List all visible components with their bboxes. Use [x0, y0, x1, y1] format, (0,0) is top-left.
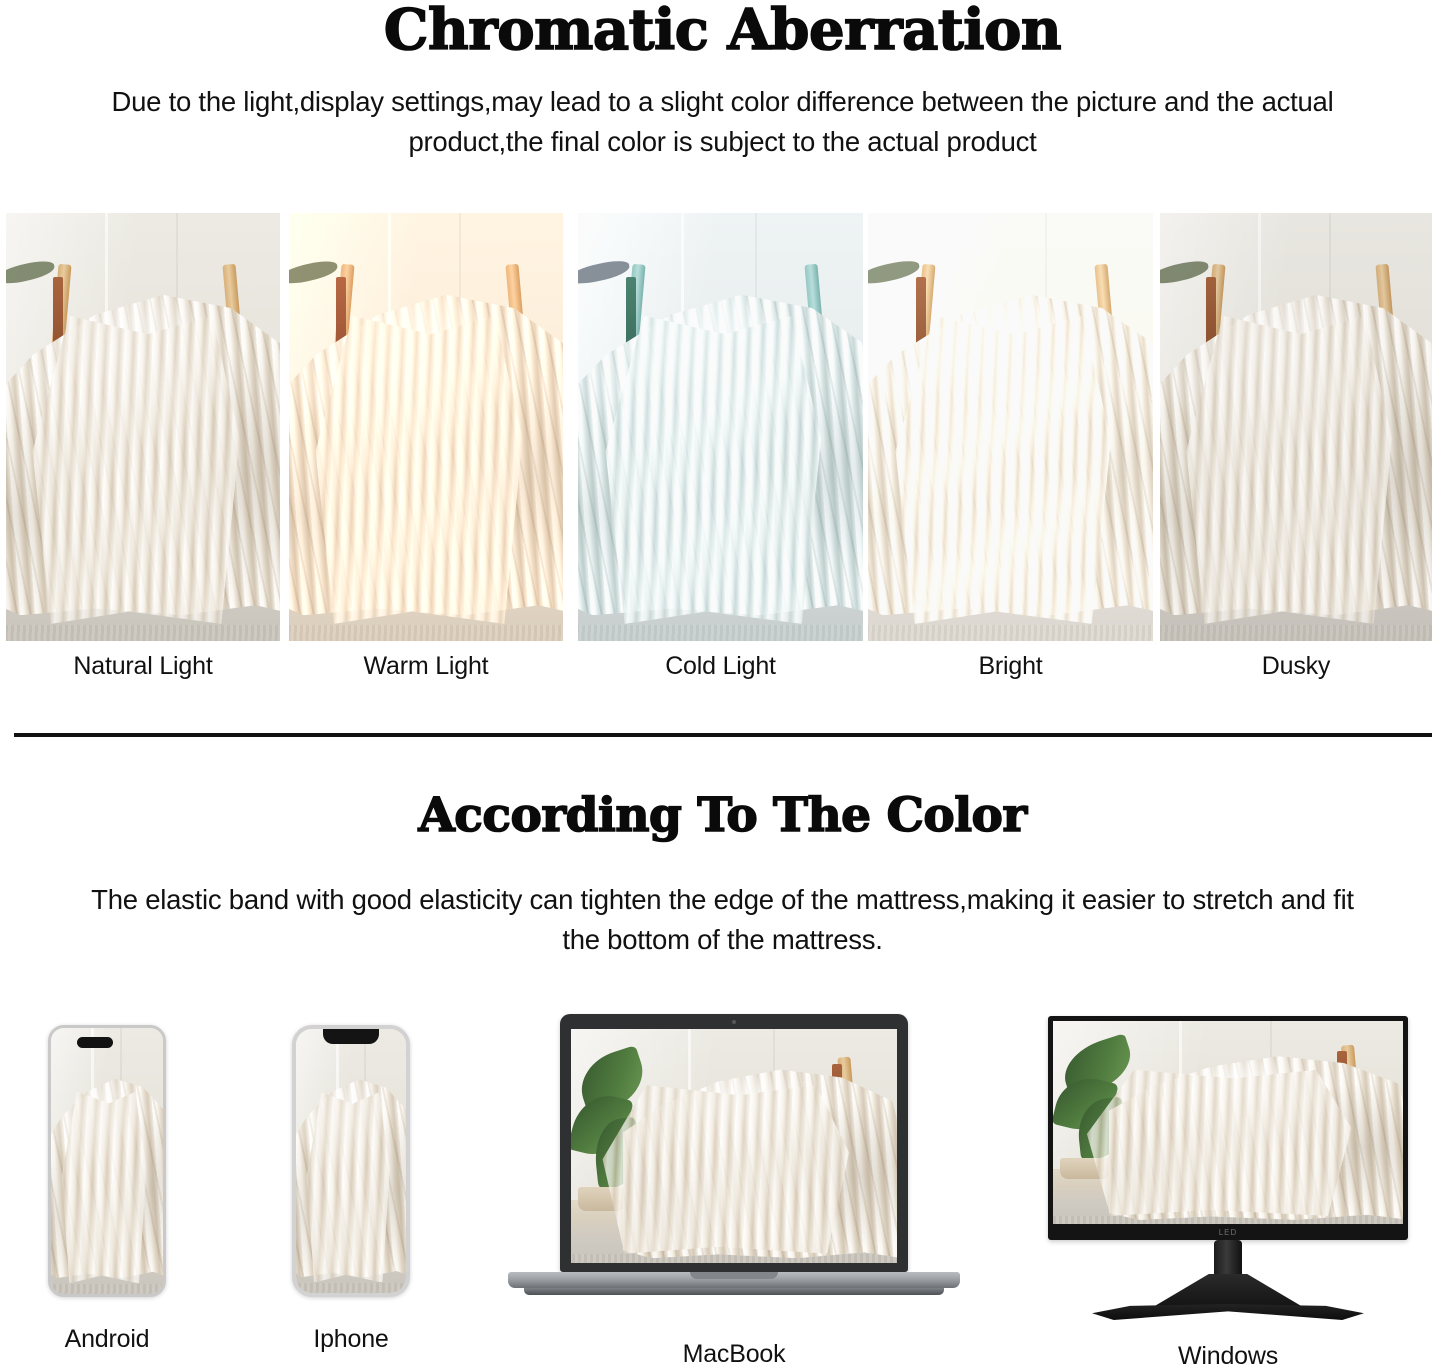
- section-divider: [14, 733, 1432, 737]
- macbook-base: [508, 1272, 960, 1288]
- page-title-according-to-the-color: According To The Color: [0, 792, 1445, 839]
- lighting-panel-dusky: [1160, 213, 1432, 641]
- rug: [1160, 625, 1432, 641]
- iphone-screen: [296, 1029, 406, 1293]
- device-mockup-windows: LED: [1048, 1016, 1408, 1316]
- device-mockup-macbook: [508, 1014, 960, 1314]
- monitor-base-feet: [1092, 1304, 1364, 1320]
- blanket-photo: [1053, 1021, 1403, 1224]
- chromatic-aberration-description: Due to the light,display settings,may le…: [60, 82, 1385, 162]
- blanket-photo: [1160, 213, 1432, 641]
- rug: [1053, 1216, 1403, 1224]
- lighting-panel-cold-light: [578, 213, 863, 641]
- lighting-panel-bright: [868, 213, 1153, 641]
- rug: [6, 625, 280, 641]
- device-mockup-row: Android Iphone: [0, 1000, 1445, 1372]
- monitor-logo: LED: [1219, 1228, 1238, 1237]
- lighting-panel-natural-light: [6, 213, 280, 641]
- lighting-label-warm-light: Warm Light: [289, 652, 563, 681]
- rug: [571, 1254, 897, 1263]
- rug: [868, 625, 1153, 641]
- blanket-photo: [571, 1029, 897, 1263]
- rug: [289, 625, 563, 641]
- blanket-photo: [578, 213, 863, 641]
- trackpad-notch: [690, 1272, 778, 1279]
- macbook-lid: [560, 1014, 908, 1272]
- notch-icon: [323, 1029, 379, 1044]
- page-title-chromatic-aberration: Chromatic Aberration: [0, 2, 1445, 58]
- device-mockup-iphone: [292, 1025, 410, 1297]
- blanket-photo: [51, 1028, 163, 1294]
- monitor-screen: [1053, 1021, 1403, 1224]
- according-to-the-color-description: The elastic band with good elasticity ca…: [85, 880, 1360, 960]
- lighting-label-dusky: Dusky: [1160, 652, 1432, 681]
- device-mockup-android: [48, 1025, 166, 1297]
- device-label-android: Android: [48, 1325, 166, 1354]
- webcam-icon: [732, 1020, 736, 1024]
- macbook-foot: [524, 1288, 944, 1295]
- android-phone-body: [48, 1025, 166, 1297]
- rug: [296, 1283, 406, 1293]
- macbook-screen: [571, 1029, 897, 1263]
- blanket-photo: [289, 213, 563, 641]
- rug: [578, 625, 863, 641]
- rug: [51, 1284, 163, 1294]
- monitor-bezel: LED: [1048, 1016, 1408, 1240]
- blanket-photo: [296, 1029, 406, 1293]
- lighting-comparison-strip: [0, 213, 1445, 641]
- android-screen: [51, 1028, 163, 1294]
- lighting-panel-warm-light: [289, 213, 563, 641]
- blanket-photo: [868, 213, 1153, 641]
- lighting-label-cold-light: Cold Light: [578, 652, 863, 681]
- blanket-photo: [6, 213, 280, 641]
- device-label-iphone: Iphone: [292, 1325, 410, 1354]
- camera-punch-hole-icon: [77, 1037, 113, 1048]
- device-label-windows: Windows: [1048, 1342, 1408, 1371]
- lighting-label-bright: Bright: [868, 652, 1153, 681]
- lighting-label-natural-light: Natural Light: [6, 652, 280, 681]
- device-label-macbook: MacBook: [508, 1340, 960, 1369]
- iphone-body: [292, 1025, 410, 1297]
- infographic-page: Chromatic Aberration Due to the light,di…: [0, 0, 1445, 1372]
- lighting-label-row: Natural Light Warm Light Cold Light Brig…: [0, 652, 1445, 692]
